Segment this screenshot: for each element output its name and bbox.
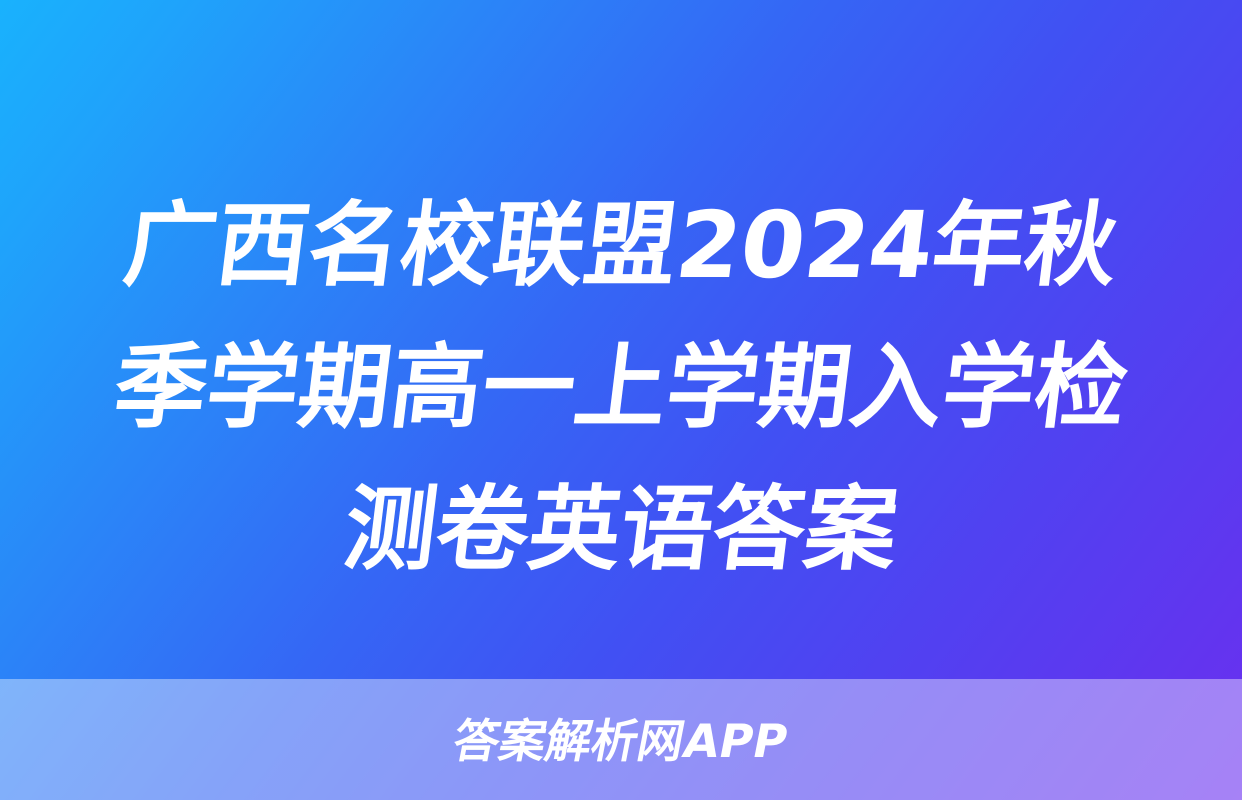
page-title: 广西名校联盟2024年秋 季学期高一上学期入学检 测卷英语答案	[0, 175, 1242, 601]
title-line-2: 季学期高一上学期入学检	[53, 317, 1188, 459]
title-line-1: 广西名校联盟2024年秋	[53, 175, 1188, 317]
title-line-3: 测卷英语答案	[53, 459, 1188, 601]
app-watermark-label: 答案解析网APP	[449, 715, 792, 767]
footer-watermark-band: 答案解析网APP	[0, 679, 1242, 800]
poster-canvas: 广西名校联盟2024年秋 季学期高一上学期入学检 测卷英语答案 答案解析网APP	[0, 0, 1242, 800]
